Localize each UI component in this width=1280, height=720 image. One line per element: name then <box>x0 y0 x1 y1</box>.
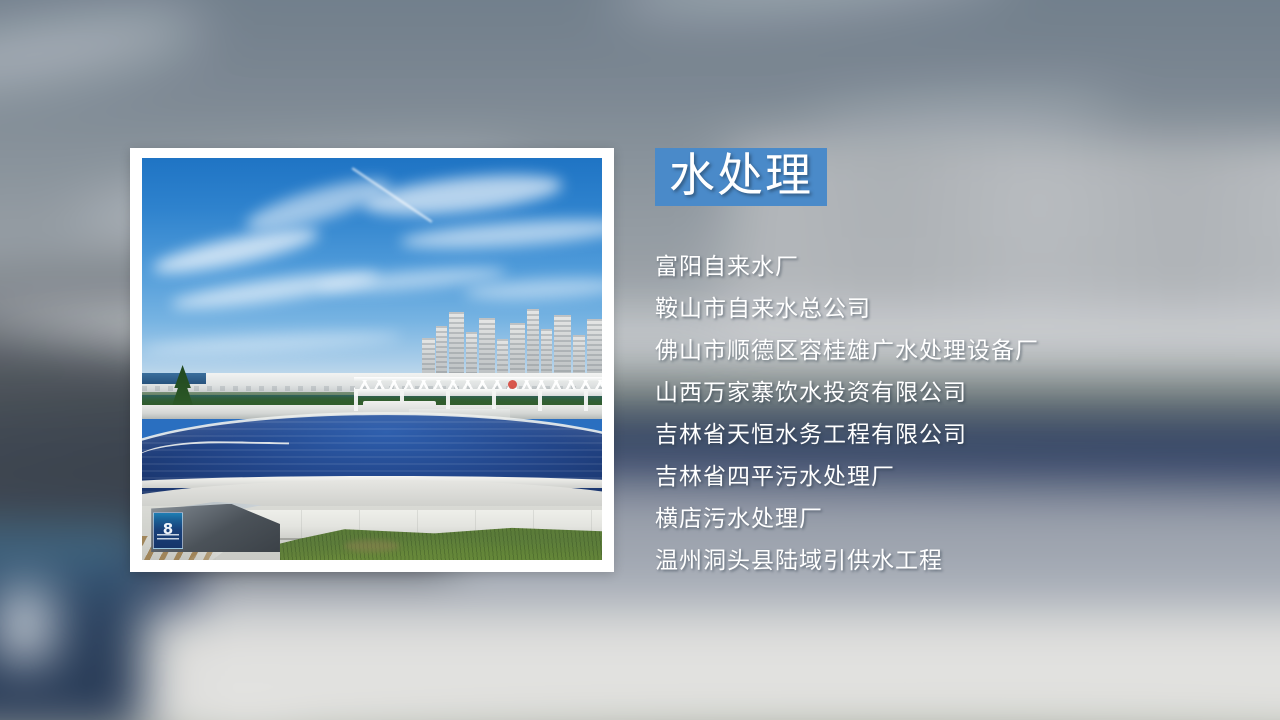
photo-buoy <box>508 380 517 389</box>
photo-card: 8 <box>130 148 614 572</box>
list-item: 温州洞头县陆域引供水工程 <box>655 540 1255 582</box>
page-title-box: 水处理 <box>655 148 827 206</box>
customer-list: 富阳自来水厂 鞍山市自来水总公司 佛山市顺德区容桂雄广水处理设备厂 山西万家寨饮… <box>655 246 1255 582</box>
water-treatment-plant-photo: 8 <box>142 158 602 560</box>
photo-blue-structure <box>142 373 206 383</box>
list-item: 山西万家寨饮水投资有限公司 <box>655 372 1255 414</box>
photo-dirt-patch <box>344 540 399 552</box>
list-item: 富阳自来水厂 <box>655 246 1255 288</box>
list-item: 鞍山市自来水总公司 <box>655 288 1255 330</box>
photo-info-sign: 8 <box>153 512 183 549</box>
list-item: 横店污水处理厂 <box>655 498 1255 540</box>
list-item: 吉林省天恒水务工程有限公司 <box>655 414 1255 456</box>
background-grass <box>293 713 1280 720</box>
page-title: 水处理 <box>669 148 813 202</box>
slide-canvas: 8 水处理 富阳自来水厂 鞍山市自来水总公司 佛山市顺德区容桂雄广水处理设备厂 … <box>0 0 1280 720</box>
content-panel: 水处理 富阳自来水厂 鞍山市自来水总公司 佛山市顺德区容桂雄广水处理设备厂 山西… <box>655 148 1255 582</box>
photo-sign-text-lines <box>157 534 178 542</box>
background-sign <box>0 527 143 720</box>
list-item: 吉林省四平污水处理厂 <box>655 456 1255 498</box>
list-item: 佛山市顺德区容桂雄广水处理设备厂 <box>655 330 1255 372</box>
